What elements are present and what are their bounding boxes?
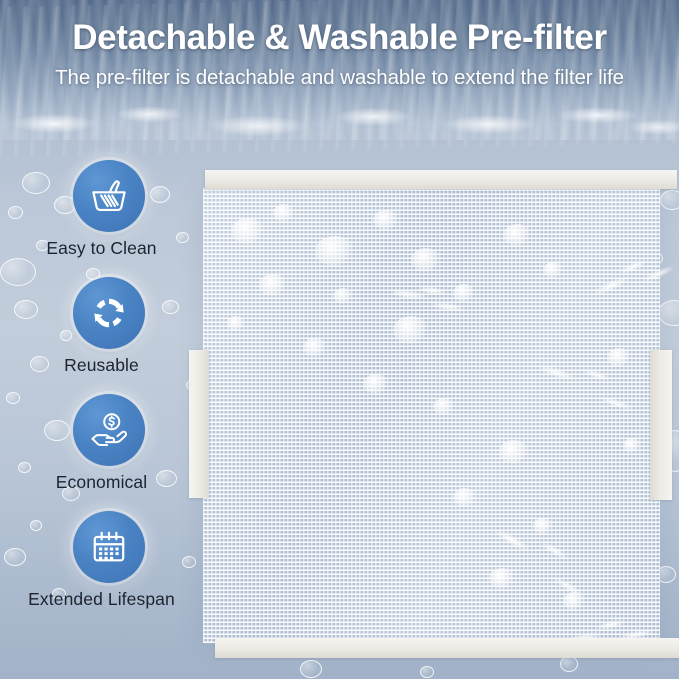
feature-label: Extended Lifespan: [0, 589, 203, 610]
feature-extended-lifespan: Extended Lifespan: [0, 511, 203, 628]
page-title: Detachable & Washable Pre-filter: [0, 18, 679, 57]
pre-filter-product-image: [203, 170, 679, 662]
feature-label: Easy to Clean: [0, 238, 203, 259]
recycle-arrows-icon: [73, 277, 145, 349]
feature-label: Reusable: [0, 355, 203, 376]
filter-frame-right-tab: [650, 350, 672, 500]
filter-mesh-screen: [203, 188, 660, 643]
page-subtitle: The pre-filter is detachable and washabl…: [0, 66, 679, 90]
filter-frame-top: [205, 170, 677, 189]
hand-holding-coin-icon: [73, 394, 145, 466]
feature-easy-to-clean: Easy to Clean: [0, 160, 203, 277]
feature-reusable: Reusable: [0, 277, 203, 394]
feature-list: Easy to Clean Reusable: [0, 160, 203, 628]
feature-label: Economical: [0, 472, 203, 493]
feature-economical: Economical: [0, 394, 203, 511]
water-foam-line: [0, 96, 679, 142]
product-infographic: Detachable & Washable Pre-filter The pre…: [0, 0, 679, 679]
header: Detachable & Washable Pre-filter The pre…: [0, 18, 679, 90]
calendar-icon: [73, 511, 145, 583]
filter-frame-bottom: [215, 638, 679, 658]
wash-basin-hand-icon: [73, 160, 145, 232]
